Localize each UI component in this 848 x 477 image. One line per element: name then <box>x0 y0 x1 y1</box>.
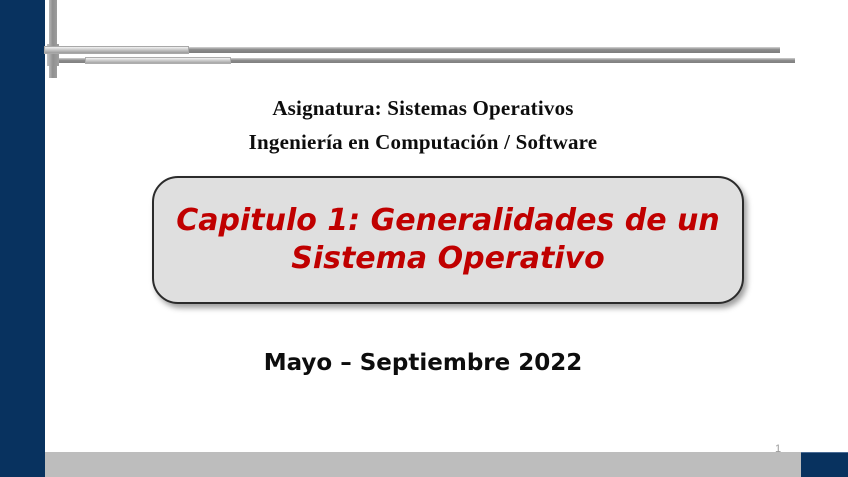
footer-grey-band <box>45 452 802 477</box>
chapter-title-box: Capitulo 1: Generalidades de un Sistema … <box>152 176 744 304</box>
subject-heading-line-2: Ingeniería en Computación / Software <box>45 130 801 155</box>
footer-navy-corner <box>801 452 848 477</box>
chapter-title-line-1: Capitulo 1: Generalidades de un <box>176 203 719 238</box>
decorative-vertical-bar <box>49 0 57 78</box>
slide-number: 1 <box>762 443 794 455</box>
date-range-text: Mayo – Septiembre 2022 <box>45 350 801 376</box>
chapter-title-line-2: Sistema Operativo <box>291 241 605 276</box>
chapter-title-text: Capitulo 1: Generalidades de un Sistema … <box>158 202 737 279</box>
decorative-bar-cap-top <box>44 46 189 54</box>
subject-heading-line-1: Asignatura: Sistemas Operativos <box>45 96 801 121</box>
decorative-bar-cap-bottom <box>85 57 231 64</box>
presentation-slide: Asignatura: Sistemas Operativos Ingenier… <box>0 0 848 477</box>
left-navy-band <box>0 0 45 477</box>
